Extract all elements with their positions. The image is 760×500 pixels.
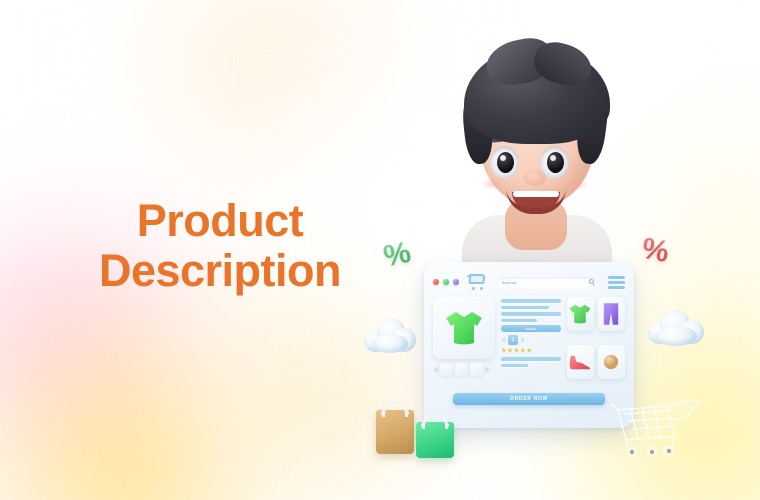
thumbnail-1[interactable] xyxy=(440,363,453,376)
shopping-bag-green-icon xyxy=(416,422,454,458)
related-products-grid xyxy=(567,297,625,389)
shop-content: Details 1 ★ ★ ★ ★ ★ xyxy=(433,297,625,389)
star-2: ★ xyxy=(507,348,512,354)
rating-stars: ★ ★ ★ ★ ★ xyxy=(501,348,561,354)
desc-line-2 xyxy=(501,306,549,310)
quantity-stepper[interactable]: 1 xyxy=(501,335,561,345)
title-line-2: Description xyxy=(60,246,380,296)
shoe-icon xyxy=(568,353,592,371)
tshirt-icon xyxy=(568,303,592,325)
slide-canvas: Product Description % % xyxy=(0,0,760,500)
shopping-bags-group xyxy=(372,396,482,468)
desc-line-3 xyxy=(501,312,561,316)
thumbnail-2[interactable] xyxy=(455,363,468,376)
character-eye-left xyxy=(490,146,519,179)
main-product-image[interactable] xyxy=(433,297,495,359)
product-hat[interactable] xyxy=(598,345,625,379)
hamburger-menu-icon[interactable] xyxy=(608,276,625,289)
shopping-cart-icon[interactable] xyxy=(467,274,487,290)
magnifier-icon[interactable] xyxy=(589,279,594,284)
shopping-trolley-icon xyxy=(604,392,704,470)
star-4: ★ xyxy=(520,348,525,354)
green-tshirt-icon xyxy=(444,309,484,347)
qty-value: 1 xyxy=(508,335,518,345)
gradient-blob-yellow-left xyxy=(0,320,290,500)
thumbnail-strip xyxy=(433,363,495,376)
character-cheek-left xyxy=(482,178,502,190)
character-pupil-right xyxy=(547,152,564,173)
page-title: Product Description xyxy=(60,196,380,296)
desc-line-6 xyxy=(501,364,528,368)
desc-line-1 xyxy=(501,299,561,303)
cloud-left-icon xyxy=(364,318,416,354)
title-line-1: Product xyxy=(60,196,380,246)
qty-increase-icon[interactable] xyxy=(521,337,525,343)
search-input[interactable]: Search xyxy=(497,277,598,288)
desc-line-5 xyxy=(501,357,561,361)
product-details: Details 1 ★ ★ ★ ★ ★ xyxy=(501,297,561,389)
percent-badge-red-icon: % xyxy=(639,232,671,270)
shopping-bag-tan-icon xyxy=(376,410,414,454)
qty-decrease-icon[interactable] xyxy=(501,337,505,343)
desc-line-4 xyxy=(501,319,537,323)
chevron-right-icon[interactable] xyxy=(485,366,490,374)
character-cheek-right xyxy=(568,178,588,190)
details-button[interactable]: Details xyxy=(501,325,561,332)
cloud-right-icon xyxy=(648,308,704,348)
star-1: ★ xyxy=(501,348,506,354)
dot-red-icon xyxy=(433,279,439,285)
dot-purple-icon xyxy=(453,279,459,285)
star-3: ★ xyxy=(514,348,519,354)
pants-icon xyxy=(602,302,620,326)
product-shoe[interactable] xyxy=(567,345,594,379)
thumbnail-3[interactable] xyxy=(470,363,483,376)
character-nose xyxy=(524,170,546,186)
character-pupil-left xyxy=(497,152,514,173)
dot-green-icon xyxy=(443,279,449,285)
product-gallery xyxy=(433,297,495,389)
chevron-left-icon[interactable] xyxy=(433,366,438,374)
star-5: ★ xyxy=(527,348,532,354)
shop-toolbar: Search xyxy=(433,270,625,294)
gradient-blob-peach-top xyxy=(120,0,420,170)
hat-icon xyxy=(600,352,622,372)
percent-badge-green-icon: % xyxy=(381,236,414,275)
product-pants[interactable] xyxy=(598,297,625,331)
search-placeholder: Search xyxy=(502,280,517,285)
window-dots xyxy=(433,279,459,285)
product-tshirt[interactable] xyxy=(567,297,594,331)
